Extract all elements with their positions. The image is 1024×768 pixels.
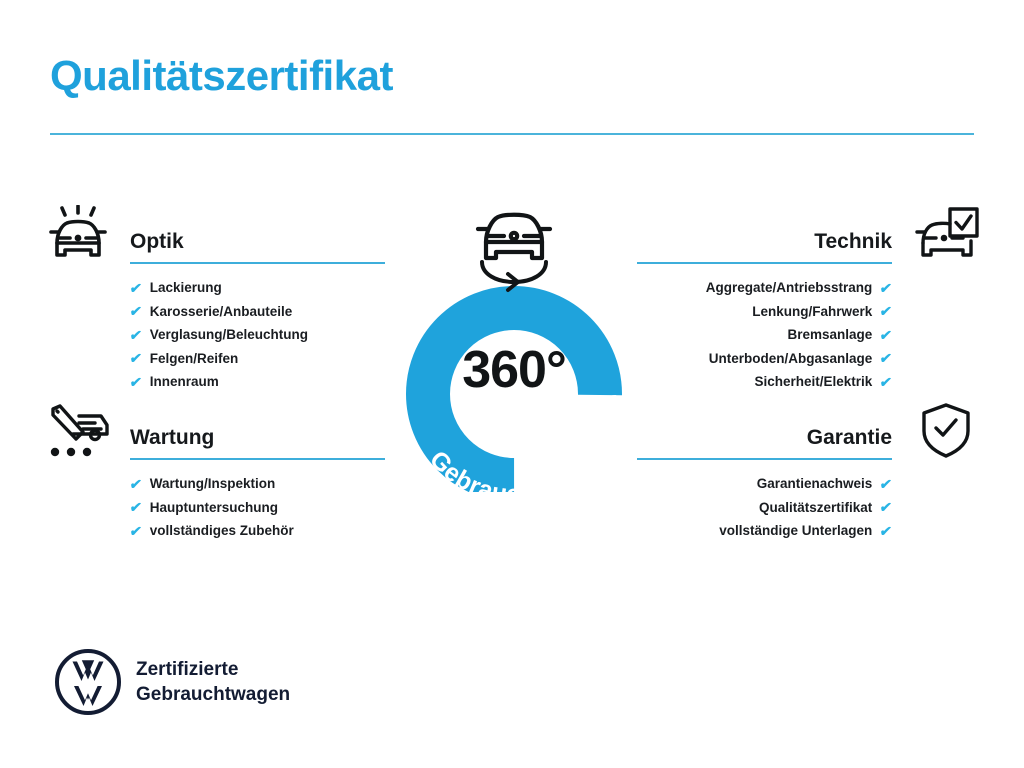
section-underline (637, 458, 892, 460)
list-item-label: vollständige Unterlagen (719, 519, 872, 543)
check-icon: ✔ (879, 351, 893, 365)
section-wartung: Wartung ✔Wartung/Inspektion ✔Hauptunters… (40, 400, 385, 543)
list-item-label: Qualitätszertifikat (759, 496, 872, 520)
check-icon: ✔ (879, 328, 893, 342)
certificate-page: Qualitätszertifikat Optik (0, 0, 1024, 768)
brand-text: Zertifizierte Gebrauchtwagen (136, 657, 290, 707)
page-title: Qualitätszertifikat (50, 52, 393, 100)
vw-logo-icon (54, 648, 122, 716)
checklist-technik: Aggregate/Antriebsstrang✔ Lenkung/Fahrwe… (637, 276, 984, 394)
shield-check-icon (908, 400, 984, 462)
list-item: Garantienachweis✔ (637, 472, 892, 496)
check-icon: ✔ (129, 351, 143, 365)
check-icon: ✔ (129, 375, 143, 389)
check-icon: ✔ (879, 477, 893, 491)
section-optik: Optik ✔Lackierung ✔Karosserie/Anbauteile… (40, 204, 385, 394)
section-title: Technik (814, 230, 892, 254)
section-header: Technik (637, 204, 984, 276)
check-icon: ✔ (129, 500, 143, 514)
list-item: ✔Innenraum (130, 370, 385, 394)
section-technik: Technik Aggregate/Antriebsstrang✔ Lenkun… (637, 204, 984, 394)
brand-lockup: Zertifizierte Gebrauchtwagen (54, 648, 290, 716)
list-item-label: Sicherheit/Elektrik (754, 370, 872, 394)
list-item: Sicherheit/Elektrik✔ (637, 370, 892, 394)
list-item-label: Garantienachweis (757, 472, 873, 496)
car-shine-icon (40, 204, 116, 266)
list-item-label: Felgen/Reifen (150, 347, 239, 371)
brand-line-1: Zertifizierte (136, 657, 290, 682)
list-item: ✔Felgen/Reifen (130, 347, 385, 371)
section-underline (130, 458, 385, 460)
section-header: Garantie (637, 400, 984, 472)
list-item-label: Verglasung/Beleuchtung (150, 323, 308, 347)
check-icon: ✔ (879, 524, 893, 538)
list-item-label: Bremsanlage (787, 323, 872, 347)
list-item: ✔Verglasung/Beleuchtung (130, 323, 385, 347)
list-item: Bremsanlage✔ (637, 323, 892, 347)
car-checkbox-icon (908, 204, 984, 266)
list-item-label: Aggregate/Antriebsstrang (706, 276, 873, 300)
list-item: Aggregate/Antriebsstrang✔ (637, 276, 892, 300)
check-icon: ✔ (129, 477, 143, 491)
check-icon: ✔ (879, 304, 893, 318)
check-icon: ✔ (129, 304, 143, 318)
list-item: ✔Hauptuntersuchung (130, 496, 385, 520)
check-icon: ✔ (879, 375, 893, 389)
section-title: Wartung (130, 426, 214, 450)
section-underline (637, 262, 892, 264)
list-item: ✔vollständiges Zubehör (130, 519, 385, 543)
checklist-garantie: Garantienachweis✔ Qualitätszertifikat✔ v… (637, 472, 984, 543)
list-item-label: Hauptuntersuchung (150, 496, 278, 520)
header-divider (50, 133, 974, 135)
list-item-label: Karosserie/Anbauteile (150, 300, 293, 324)
brand-line-2: Gebrauchtwagen (136, 682, 290, 707)
badge-360-gebrauchtwagen-check: Gebrauchtwagen-Check 360° (374, 192, 654, 492)
list-item: ✔Lackierung (130, 276, 385, 300)
section-header: Optik (40, 204, 385, 276)
list-item: ✔Karosserie/Anbauteile (130, 300, 385, 324)
list-item: Lenkung/Fahrwerk✔ (637, 300, 892, 324)
check-icon: ✔ (879, 281, 893, 295)
list-item-label: Innenraum (150, 370, 219, 394)
list-item-label: Lackierung (150, 276, 222, 300)
section-garantie: Garantie Garantienachweis✔ Qualitätszert… (637, 400, 984, 543)
list-item-label: Unterboden/Abgasanlage (709, 347, 873, 371)
check-icon: ✔ (879, 500, 893, 514)
section-header: Wartung (40, 400, 385, 472)
section-title: Garantie (807, 426, 892, 450)
check-icon: ✔ (129, 328, 143, 342)
list-item: Unterboden/Abgasanlage✔ (637, 347, 892, 371)
wrench-car-icon (40, 400, 116, 462)
checklist-wartung: ✔Wartung/Inspektion ✔Hauptuntersuchung ✔… (40, 472, 385, 543)
list-item: vollständige Unterlagen✔ (637, 519, 892, 543)
list-item: Qualitätszertifikat✔ (637, 496, 892, 520)
check-icon: ✔ (129, 524, 143, 538)
list-item-label: Wartung/Inspektion (150, 472, 276, 496)
section-title: Optik (130, 230, 184, 254)
section-underline (130, 262, 385, 264)
list-item-label: Lenkung/Fahrwerk (752, 300, 872, 324)
checklist-optik: ✔Lackierung ✔Karosserie/Anbauteile ✔Verg… (40, 276, 385, 394)
list-item: ✔Wartung/Inspektion (130, 472, 385, 496)
badge-number: 360° (374, 340, 654, 400)
check-icon: ✔ (129, 281, 143, 295)
list-item-label: vollständiges Zubehör (150, 519, 294, 543)
car-rotate-icon (464, 196, 564, 296)
